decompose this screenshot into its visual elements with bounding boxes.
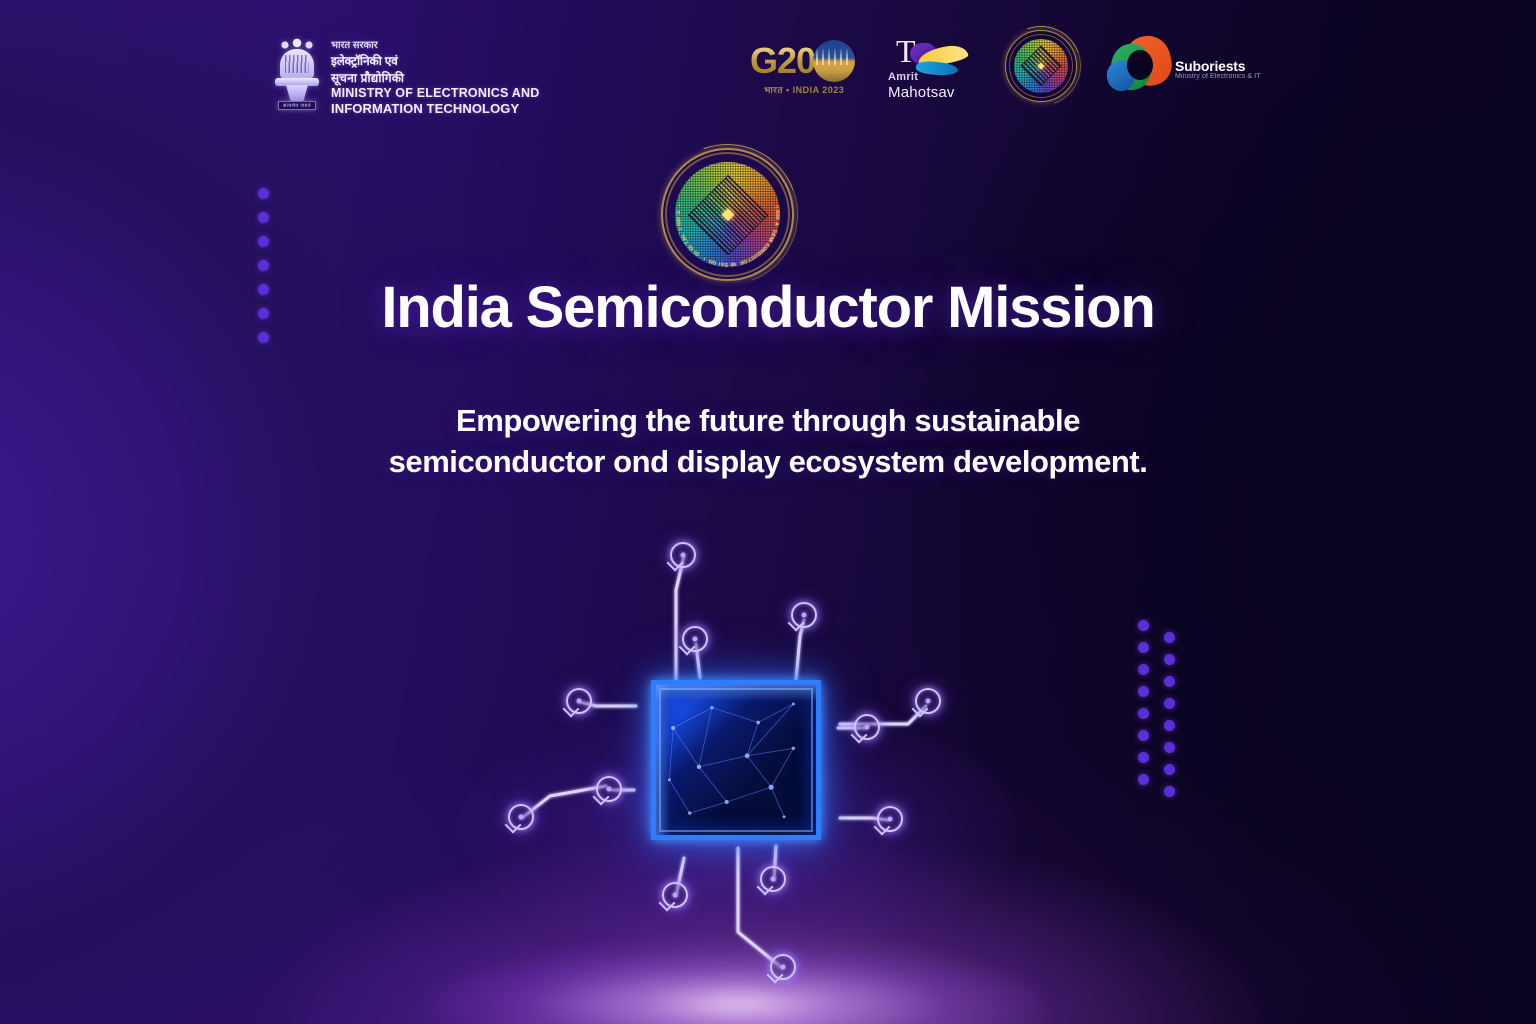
ministry-of-electronics-and-it-logo: सत्यमेव जयते भारत सरकार इलेक्ट्रॉनिकी एव…	[272, 33, 539, 116]
decor-dot	[1138, 664, 1149, 675]
ashoka-emblem-icon: सत्यमेव जयते	[272, 33, 322, 111]
circuit-node	[662, 882, 688, 908]
poster-canvas: सत्यमेव जयते भारत सरकार इलेक्ट्रॉनिकी एव…	[0, 0, 1536, 1024]
decor-dot	[1138, 686, 1149, 697]
circuit-node	[854, 714, 880, 740]
amrit-mahotsav-logo: T Amrit Mahotsav	[886, 33, 986, 105]
glowing-microchip-illustration	[488, 528, 988, 998]
circuit-node	[760, 866, 786, 892]
decor-dot	[1164, 698, 1175, 709]
ministry-line-5: INFORMATION TECHNOLOGY	[331, 101, 539, 116]
emblem-rainbow-wafer-icon	[675, 162, 780, 267]
decor-dot	[258, 308, 269, 319]
ashoka-motto-text: सत्यमेव जयते	[279, 103, 315, 109]
decor-dot	[1164, 764, 1175, 775]
header-logo-bar: सत्यमेव जयते भारत सरकार इलेक्ट्रॉनिकी एव…	[0, 0, 1536, 135]
tricolor-logo-tagline: Ministry of Electronics & IT	[1175, 73, 1261, 80]
decor-dot	[1138, 620, 1149, 631]
ministry-line-1: भारत सरकार	[331, 37, 539, 51]
swoosh-cutout	[1127, 50, 1153, 80]
ashoka-bell-base	[284, 85, 310, 102]
circuit-node	[566, 688, 592, 714]
decor-dot	[1138, 774, 1149, 785]
decor-dot	[1138, 752, 1149, 763]
decor-dot	[1164, 676, 1175, 687]
ashoka-abacus	[275, 78, 319, 86]
decorative-dots-right	[1138, 620, 1178, 810]
india-semiconductor-mission-emblem: INDIA SEMICONDUCTOR MISSION • DIGITAL IN…	[661, 148, 794, 281]
page-title: India Semiconductor Mission	[218, 278, 1318, 337]
decor-dot	[1138, 642, 1149, 653]
ministry-line-4: MINISTRY OF ELECTRONICS AND	[331, 86, 539, 100]
ashoka-lion-body	[280, 49, 314, 79]
decorative-dots-left	[258, 188, 269, 356]
decor-dot	[1164, 742, 1175, 753]
blue-swoosh-icon	[915, 60, 958, 77]
circuit-node	[596, 776, 622, 802]
decor-dot	[258, 260, 269, 271]
circuit-node	[915, 688, 941, 714]
circuit-node	[877, 806, 903, 832]
g20-wordmark: G20	[750, 40, 815, 82]
circuit-node	[770, 954, 796, 980]
decor-dot	[1138, 708, 1149, 719]
decor-dot	[258, 284, 269, 295]
decor-dot	[258, 188, 269, 199]
badge-rainbow-wafer-icon	[1014, 39, 1068, 93]
decor-dot	[258, 236, 269, 247]
ministry-name-block: भारत सरकार इलेक्ट्रॉनिकी एवं सूचना प्रौद…	[331, 33, 539, 116]
circuit-nodes	[488, 528, 988, 998]
circuit-node	[682, 626, 708, 652]
g20-logo: G20 भारत • INDIA 2023	[750, 34, 865, 104]
g20-subtitle: भारत • INDIA 2023	[764, 83, 844, 96]
decor-dot	[1138, 730, 1149, 741]
decor-dot	[1164, 654, 1175, 665]
ministry-line-2: इलेक्ट्रॉनिकी एवं	[331, 52, 539, 69]
tricolor-swoosh-logo: Suboriests Ministry of Electronics & IT	[1103, 34, 1228, 104]
holographic-wafer-badge-logo	[1005, 30, 1077, 102]
amrit-mahotsav-line-2: Mahotsav	[888, 84, 955, 101]
circuit-node	[508, 804, 534, 830]
circuit-node	[791, 602, 817, 628]
page-subtitle: Empowering the future through sustainabl…	[353, 400, 1183, 482]
decor-dot	[1164, 720, 1175, 731]
circuit-node	[670, 542, 696, 568]
decor-dot	[258, 212, 269, 223]
amrit-mahotsav-line-1: Amrit	[888, 71, 918, 83]
decor-dot	[1164, 786, 1175, 797]
decor-dot	[1164, 632, 1175, 643]
tricolor-logo-name: Suboriests	[1175, 58, 1245, 74]
decor-dot	[258, 332, 269, 343]
ministry-line-3: सूचना प्रौद्योगिकी	[331, 69, 539, 86]
g20-globe-icon	[813, 40, 855, 82]
